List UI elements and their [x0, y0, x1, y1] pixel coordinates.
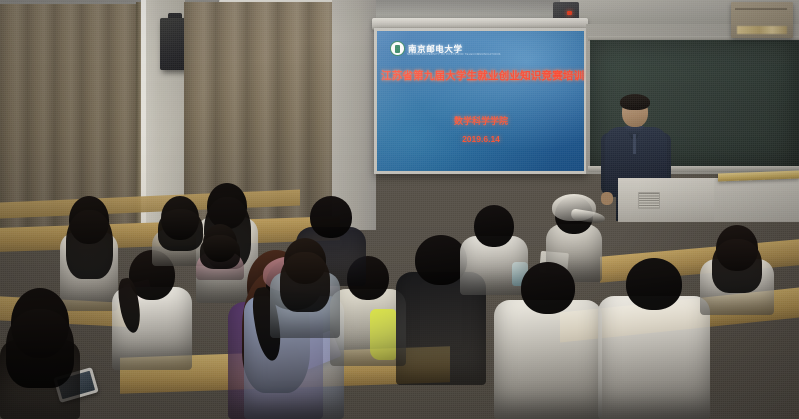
person-head: [310, 196, 352, 238]
slide-university-logo: 南京邮电大学 NANJING UNIVERSITY OF POSTS AND T…: [390, 41, 463, 56]
person-long-hair: [712, 239, 762, 293]
lecture-hall-photo: 南京邮电大学 NANJING UNIVERSITY OF POSTS AND T…: [0, 0, 799, 419]
university-logo-subtext: NANJING UNIVERSITY OF POSTS AND TELECOMM…: [407, 53, 501, 56]
slide-title: 江苏省第九届大学生就业创业知识竞赛培训: [381, 68, 581, 83]
person-long-hair: [6, 309, 74, 388]
person-torso: [598, 296, 710, 419]
person-long-hair: [200, 235, 240, 269]
cabinet-seam: [735, 8, 787, 10]
student-far-right-girl: [700, 225, 774, 315]
person-head: [521, 262, 575, 314]
emblem-inner-mark: [395, 45, 400, 53]
person-long-hair: [66, 210, 113, 279]
person-head: [626, 258, 682, 310]
presenter-polo-placket: [633, 134, 636, 154]
projector-led-indicator: [567, 11, 572, 15]
student-grey-jacket: [270, 238, 340, 338]
student-pink-top: [196, 224, 244, 280]
person-long-hair: [280, 252, 330, 312]
cabinet-light-glow: [737, 26, 787, 34]
slide-date: 2019.6.14: [381, 134, 581, 144]
student-right-white-tee-1: [494, 262, 602, 419]
person-torso: [494, 300, 602, 419]
lecture-podium-body: [714, 179, 799, 221]
stage-speaker-grille-left: [638, 192, 660, 209]
person-head: [474, 205, 514, 247]
student-right-white-tee-2: [598, 258, 710, 419]
student-glasses-white: [112, 250, 192, 370]
university-emblem-icon: [390, 41, 405, 56]
presenter-hair: [620, 94, 650, 110]
presenter-left-hand: [601, 192, 613, 205]
student-front-left-phone: [0, 288, 80, 419]
shirt-accent-stripe: [370, 309, 396, 360]
slide-department: 数学科学学院: [381, 114, 581, 127]
